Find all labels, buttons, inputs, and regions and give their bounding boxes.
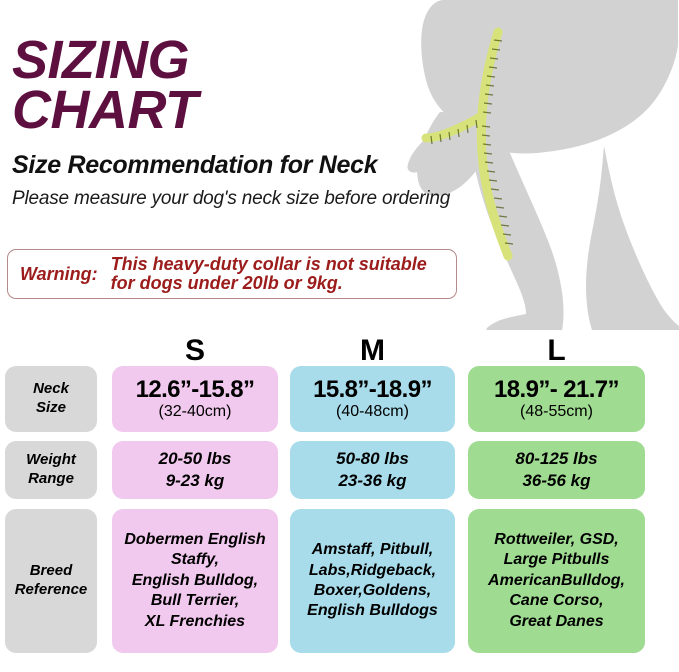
subtitle: Size Recommendation for Neck [12, 151, 450, 180]
weight-range-cell-s: 20-50 lbs 9-23 kg [112, 441, 278, 499]
warning-label: Warning: [8, 264, 98, 285]
weight-range-text-s: 20-50 lbs 9-23 kg [159, 448, 232, 493]
neck-size-inches-l: 18.9”- 21.7” [494, 377, 619, 402]
weight-range-cell-m: 50-80 lbs 23-36 kg [290, 441, 455, 499]
measure-instruction: Please measure your dog's neck size befo… [12, 188, 450, 210]
table-row: Neck Size 12.6”-15.8” (32-40cm) 15.8”-18… [0, 366, 679, 432]
size-table: S M L Neck Size 12.6”-15.8” (32-40cm) 15… [0, 330, 679, 653]
breed-reference-text-l: Rottweiler, GSD, Large Pitbulls American… [488, 530, 625, 632]
row-label-neck-size: Neck Size [5, 366, 97, 432]
breed-reference-cell-s: Dobermen English Staffy, English Bulldog… [112, 509, 278, 653]
neck-size-cm-m: (40-48cm) [336, 403, 409, 421]
table-header-row: S M L [0, 330, 679, 366]
neck-size-cell-s: 12.6”-15.8” (32-40cm) [112, 366, 278, 432]
breed-reference-cell-l: Rottweiler, GSD, Large Pitbulls American… [468, 509, 645, 653]
neck-size-inches-s: 12.6”-15.8” [136, 377, 255, 402]
row-label-breed-reference: Breed Reference [5, 509, 97, 653]
size-header-m: M [290, 336, 455, 366]
neck-size-cm-s: (32-40cm) [159, 403, 232, 421]
weight-range-text-m: 50-80 lbs 23-36 kg [336, 448, 409, 493]
table-row: Weight Range 20-50 lbs 9-23 kg 50-80 lbs… [0, 441, 679, 499]
neck-size-cm-l: (48-55cm) [520, 403, 593, 421]
page-title: SIZING CHART [12, 36, 450, 135]
breed-reference-cell-m: Amstaff, Pitbull, Labs,Ridgeback, Boxer,… [290, 509, 455, 653]
dog-hind-leg-icon [586, 146, 679, 330]
warning-message: This heavy-duty collar is not suitable f… [98, 255, 427, 294]
neck-size-cell-m: 15.8”-18.9” (40-48cm) [290, 366, 455, 432]
neck-size-cell-l: 18.9”- 21.7” (48-55cm) [468, 366, 645, 432]
weight-range-text-l: 80-125 lbs 36-56 kg [515, 448, 597, 493]
breed-reference-text-m: Amstaff, Pitbull, Labs,Ridgeback, Boxer,… [307, 540, 438, 622]
breed-reference-text-s: Dobermen English Staffy, English Bulldog… [124, 530, 265, 632]
row-label-weight-range: Weight Range [5, 441, 97, 499]
neck-size-inches-m: 15.8”-18.9” [313, 377, 432, 402]
size-header-l: L [468, 336, 645, 366]
header-block: SIZING CHART Size Recommendation for Nec… [12, 36, 450, 210]
weight-range-cell-l: 80-125 lbs 36-56 kg [468, 441, 645, 499]
table-row: Breed Reference Dobermen English Staffy,… [0, 509, 679, 653]
warning-box: Warning: This heavy-duty collar is not s… [7, 249, 457, 299]
size-header-s: S [112, 336, 278, 366]
